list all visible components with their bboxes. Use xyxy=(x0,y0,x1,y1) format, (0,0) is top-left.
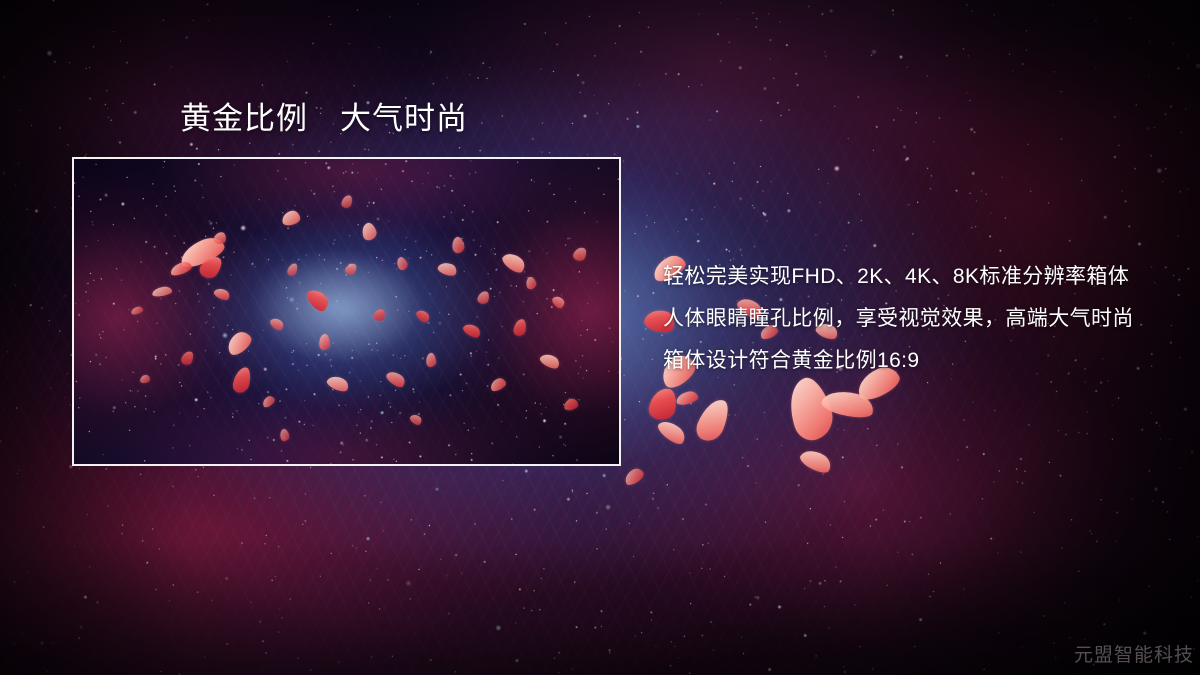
petal xyxy=(781,373,838,444)
petal xyxy=(622,466,646,487)
petal xyxy=(798,445,835,477)
panel-nebula-filaments xyxy=(74,159,619,464)
body-line-1: 轻松完美实现FHD、2K、4K、8K标准分辨率箱体 xyxy=(663,256,1163,298)
petal xyxy=(655,416,688,448)
petal xyxy=(693,395,734,446)
body-line-3: 箱体设计符合黄金比例16:9 xyxy=(663,340,1163,382)
body-line-2: 人体眼睛瞳孔比例，享受视觉效果，高端大气时尚 xyxy=(663,298,1163,340)
image-frame[interactable] xyxy=(72,157,621,466)
slide-title: 黄金比例 大气时尚 xyxy=(180,103,468,136)
petal xyxy=(675,390,699,406)
presentation-slide: 黄金比例 大气时尚 轻松完美实现FHD、2K、4K、8K标准分辨率箱体 人体眼睛… xyxy=(0,0,1200,675)
petal xyxy=(820,386,876,422)
petal xyxy=(647,386,679,423)
body-text-block: 轻松完美实现FHD、2K、4K、8K标准分辨率箱体 人体眼睛瞳孔比例，享受视觉效… xyxy=(663,256,1163,382)
watermark: 元盟智能科技 xyxy=(1074,640,1194,667)
